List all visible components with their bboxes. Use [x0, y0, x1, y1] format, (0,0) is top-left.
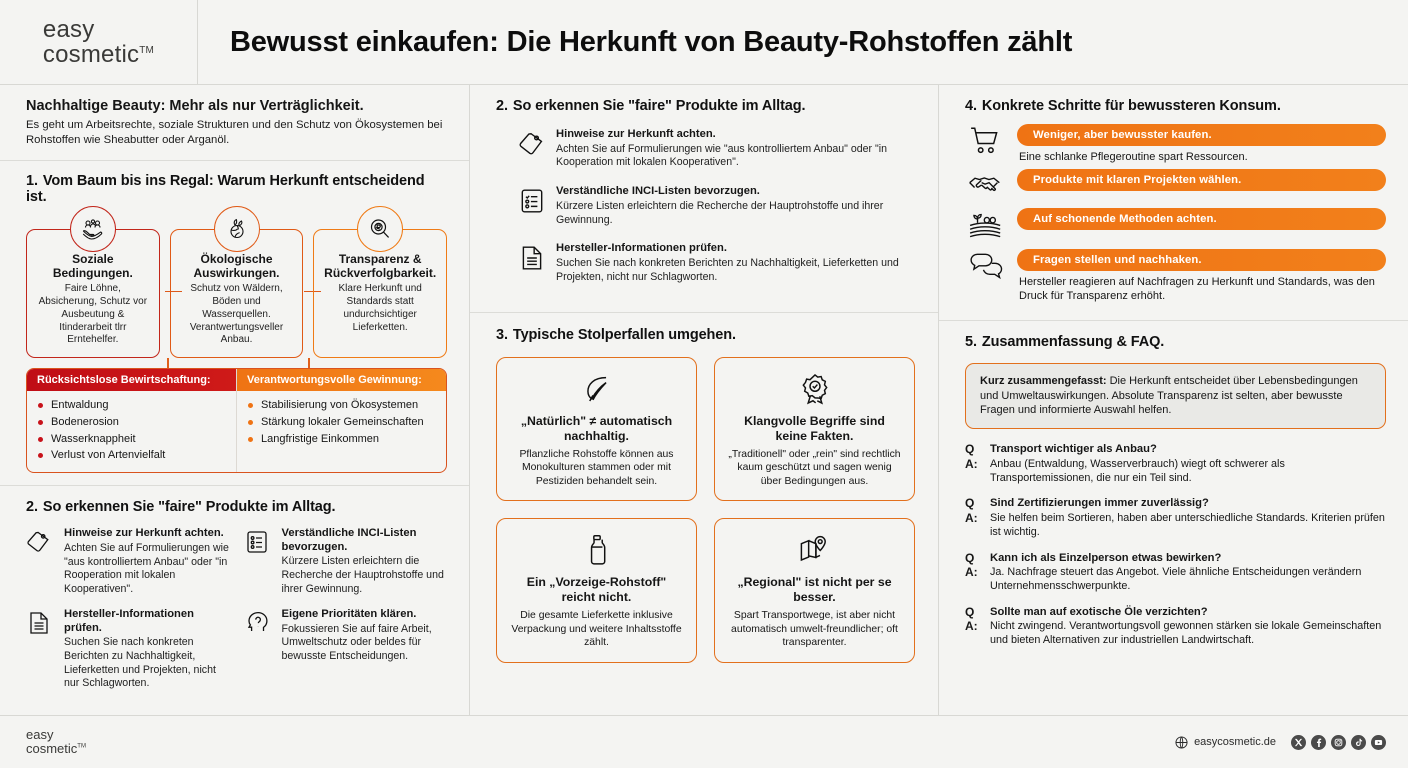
page-footer: easy cosmeticTM easycosmetic.de: [0, 715, 1408, 768]
faq-item[interactable]: Q Sollte man auf exotische Öle verzichte…: [965, 605, 1386, 648]
answer-marker: A:: [965, 565, 980, 594]
tip-body: Suchen Sie nach konkreten Berichten zu N…: [556, 257, 916, 285]
x-icon[interactable]: [1291, 735, 1306, 750]
tip-body: Kürzere Listen erleichtern die Recherche…: [282, 555, 448, 596]
comparison-heading: Verantwortungsvolle Gewinnung:: [237, 369, 446, 391]
column-left: Nachhaltige Beauty: Mehr als nur Verträg…: [0, 85, 470, 715]
column-right: 4.Konkrete Schritte für bewussteren Kons…: [939, 85, 1408, 715]
pillar-card-social: Soziale Bedingungen. Faire Löhne, Absich…: [26, 229, 160, 359]
section-2-mid-title: 2.So erkennen Sie "faire" Produkte im Al…: [496, 98, 916, 114]
pillar-title: Transparenz & Rückverfolgbarkeit.: [322, 252, 438, 281]
section-4-title: 4.Konkrete Schritte für bewussteren Kons…: [965, 98, 1386, 114]
trademark-mark: TM: [139, 45, 154, 56]
list-item: Langfristige Einkommen: [247, 431, 436, 448]
faq-answer-text: Nicht zwingend. Verantwortungsvoll gewon…: [990, 619, 1386, 648]
instagram-icon[interactable]: [1331, 735, 1346, 750]
pillar-title: Soziale Bedingungen.: [35, 252, 151, 281]
faq-question-text: Sollte man auf exotische Öle verzichten?: [990, 605, 1208, 620]
globe-icon: [1175, 736, 1188, 749]
pillar-body: Schutz von Wäldern, Böden und Wasserquel…: [179, 283, 295, 347]
pillar-body: Klare Herkunft und Standards statt undur…: [322, 283, 438, 334]
answer-marker: A:: [965, 511, 980, 540]
section-1-title: 1.Vom Baum bis ins Regal: Warum Herkunft…: [26, 173, 447, 205]
faq-question-text: Transport wichtiger als Anbau?: [990, 442, 1157, 457]
question-marker: Q: [965, 496, 980, 511]
summary-label: Kurz zusammengefasst:: [980, 375, 1107, 387]
action-steps-list: Weniger, aber bewusster kaufen. Eine sch…: [965, 124, 1386, 304]
pitfall-card-buzzwords: Klangvolle Begriffe sind keine Fakten. „…: [714, 357, 915, 502]
magnifier-icon: [357, 206, 403, 252]
checklist-icon: [518, 185, 546, 227]
list-item: Stärkung lokaler Gemeinschaften: [247, 414, 436, 431]
faq-question: Q Transport wichtiger als Anbau?: [965, 442, 1386, 457]
faq-item[interactable]: Q Sind Zertifizierungen immer zuverlässi…: [965, 496, 1386, 539]
faq-question-text: Sind Zertifizierungen immer zuverlässig?: [990, 496, 1209, 511]
tips-list-mid: Hinweise zur Herkunft achten. Achten Sie…: [496, 128, 916, 285]
brand-logo: easy cosmeticTM: [0, 0, 198, 84]
summary-callout: Kurz zusammengefasst: Die Herkunft entsc…: [965, 363, 1386, 430]
action-step-pill[interactable]: Auf schonende Methoden achten.: [1017, 208, 1386, 230]
facebook-icon[interactable]: [1311, 735, 1326, 750]
trademark-mark: TM: [77, 744, 86, 750]
field-plant-icon: [965, 208, 1007, 240]
action-step-pill[interactable]: Weniger, aber bewusster kaufen.: [1017, 124, 1386, 146]
header-title-cell: Bewusst einkaufen: Die Herkunft von Beau…: [198, 0, 1408, 84]
tip-body: Fokussieren Sie auf faire Arbeit, Umwelt…: [282, 623, 448, 664]
faq-answer: A: Anbau (Entwaldung, Wasserverbrauch) w…: [965, 457, 1386, 486]
section-5: 5.Zusammenfassung & FAQ. Kurz zusammenge…: [939, 320, 1408, 669]
action-step-pill[interactable]: Produkte mit klaren Projekten wählen.: [1017, 169, 1386, 191]
hands-people-icon: [70, 206, 116, 252]
pillar-card-group: Soziale Bedingungen. Faire Löhne, Absich…: [26, 229, 447, 359]
bottle-icon: [509, 529, 684, 571]
action-step: Weniger, aber bewusster kaufen. Eine sch…: [965, 124, 1386, 165]
faq-answer: A: Ja. Nachfrage steuert das Angebot. Vi…: [965, 565, 1386, 594]
head-question-icon: [244, 608, 272, 691]
content-columns: Nachhaltige Beauty: Mehr als nur Verträg…: [0, 85, 1408, 715]
tip-item: Hersteller-Informationen prüfen. Suchen …: [26, 608, 230, 691]
footer-right: easycosmetic.de: [1175, 735, 1386, 750]
question-marker: Q: [965, 551, 980, 566]
action-step: Fragen stellen und nachhaken. Hersteller…: [965, 249, 1386, 304]
tip-body: Achten Sie auf Formulierungen wie "aus k…: [64, 542, 230, 597]
section-3-title: 3.Typische Stolperfallen umgehen.: [496, 327, 916, 343]
map-pin-icon: [727, 529, 902, 571]
column-middle: 2.So erkennen Sie "faire" Produkte im Al…: [470, 85, 939, 715]
logo-line-2: cosmeticTM: [43, 42, 154, 67]
comparison-column-good: Verantwortungsvolle Gewinnung: Stabilisi…: [236, 369, 446, 472]
faq-answer-text: Sie helfen beim Sortieren, haben aber un…: [990, 511, 1386, 540]
pitfall-body: Spart Transportwege, ist aber nicht auto…: [727, 609, 902, 650]
tip-title: Verständliche INCI-Listen bevorzugen.: [556, 185, 916, 199]
comparison-list-bad: Entwaldung Bodenerosion Wasserknappheit …: [27, 391, 236, 472]
tip-body: Suchen Sie nach konkreten Berichten zu N…: [64, 636, 230, 691]
list-item: Wasserknappheit: [37, 431, 226, 448]
social-links: [1291, 735, 1386, 750]
leaf-icon: [509, 368, 684, 410]
tip-item: Hinweise zur Herkunft achten. Achten Sie…: [518, 128, 916, 170]
pitfall-title: Klangvolle Begriffe sind keine Fakten.: [727, 414, 902, 444]
list-item: Stabilisierung von Ökosystemen: [247, 397, 436, 414]
tip-item: Verständliche INCI-Listen bevorzugen. Kü…: [518, 185, 916, 227]
comparison-heading: Rücksichtslose Bewirtschaftung:: [27, 369, 236, 391]
infographic-page: easy cosmeticTM Bewusst einkaufen: Die H…: [0, 0, 1408, 768]
footer-logo-line-1: easy: [26, 728, 86, 742]
tip-title: Hersteller-Informationen prüfen.: [556, 242, 916, 256]
pitfall-card-hero-ingredient: Ein „Vorzeige-Rohstoff" reicht nicht. Di…: [496, 518, 697, 663]
page-header: easy cosmeticTM Bewusst einkaufen: Die H…: [0, 0, 1408, 85]
answer-marker: A:: [965, 457, 980, 486]
tag-icon: [26, 527, 54, 597]
section-3: 3.Typische Stolperfallen umgehen. „Natür…: [470, 312, 938, 673]
pitfall-body: Die gesamte Lieferkette inklusive Verpac…: [509, 609, 684, 650]
badge-check-icon: [727, 368, 902, 410]
pitfall-title: „Natürlich" ≠ automatisch nachhaltig.: [509, 414, 684, 444]
website-link[interactable]: easycosmetic.de: [1175, 736, 1276, 749]
pitfall-card-natural: „Natürlich" ≠ automatisch nachhaltig. Pf…: [496, 357, 697, 502]
tip-title: Hinweise zur Herkunft achten.: [556, 128, 916, 142]
action-step-pill[interactable]: Fragen stellen und nachhaken.: [1017, 249, 1386, 271]
intro-body: Es geht um Arbeitsrechte, soziale Strukt…: [26, 118, 447, 149]
tip-body: Kürzere Listen erleichtern die Recherche…: [556, 200, 916, 228]
document-icon: [26, 608, 54, 691]
question-marker: Q: [965, 605, 980, 620]
section-1: 1.Vom Baum bis ins Regal: Warum Herkunft…: [0, 160, 469, 486]
pitfall-title: Ein „Vorzeige-Rohstoff" reicht nicht.: [509, 575, 684, 605]
faq-question-text: Kann ich als Einzelperson etwas bewirken…: [990, 551, 1221, 566]
tiktok-icon[interactable]: [1351, 735, 1366, 750]
document-icon: [518, 242, 546, 284]
action-step: Produkte mit klaren Projekten wählen.: [965, 169, 1386, 199]
faq-answer: A: Nicht zwingend. Verantwortungsvoll ge…: [965, 619, 1386, 648]
action-step: Auf schonende Methoden achten.: [965, 208, 1386, 240]
intro-heading: Nachhaltige Beauty: Mehr als nur Verträg…: [26, 98, 447, 114]
tip-title: Eigene Prioritäten klären.: [282, 608, 448, 622]
section-2-left: 2.So erkennen Sie "faire" Produkte im Al…: [0, 485, 469, 712]
action-step-sub: Eine schlanke Pflegeroutine spart Ressou…: [1017, 146, 1386, 165]
question-marker: Q: [965, 442, 980, 457]
page-title: Bewusst einkaufen: Die Herkunft von Beau…: [230, 26, 1072, 59]
list-item: Verlust von Artenvielfalt: [37, 447, 226, 464]
pillar-body: Faire Löhne, Absicherung, Schutz vor Aus…: [35, 283, 151, 347]
tip-item: Eigene Prioritäten klären. Fokussieren S…: [244, 608, 448, 691]
pitfall-card-grid: „Natürlich" ≠ automatisch nachhaltig. Pf…: [496, 357, 916, 663]
faq-list: Q Transport wichtiger als Anbau? A: Anba…: [965, 442, 1386, 647]
section-1-number: 1.: [26, 173, 38, 189]
tips-grid-left: Hinweise zur Herkunft achten. Achten Sie…: [26, 527, 447, 702]
checklist-icon: [244, 527, 272, 597]
tip-body: Achten Sie auf Formulierungen wie "aus k…: [556, 143, 916, 171]
pitfall-body: „Traditionell" oder „rein" sind rechtlic…: [727, 448, 902, 489]
faq-item[interactable]: Q Transport wichtiger als Anbau? A: Anba…: [965, 442, 1386, 485]
pillar-card-transparency: Transparenz & Rückverfolgbarkeit. Klare …: [313, 229, 447, 359]
faq-answer-text: Ja. Nachfrage steuert das Angebot. Viele…: [990, 565, 1386, 594]
intro-block: Nachhaltige Beauty: Mehr als nur Verträg…: [0, 85, 469, 160]
tip-item: Hinweise zur Herkunft achten. Achten Sie…: [26, 527, 230, 597]
pillar-connectors: [26, 358, 447, 368]
website-label: easycosmetic.de: [1194, 736, 1276, 748]
logo-text: easy cosmeticTM: [43, 17, 154, 67]
faq-question: Q Sollte man auf exotische Öle verzichte…: [965, 605, 1386, 620]
handshake-icon: [965, 169, 1007, 199]
section-2-mid: 2.So erkennen Sie "faire" Produkte im Al…: [470, 85, 938, 312]
answer-marker: A:: [965, 619, 980, 648]
pitfall-body: Pflanzliche Rohstoffe können aus Monokul…: [509, 448, 684, 489]
youtube-icon[interactable]: [1371, 735, 1386, 750]
comparison-column-bad: Rücksichtslose Bewirtschaftung: Entwaldu…: [27, 369, 236, 472]
pillar-title: Ökologische Auswirkungen.: [179, 252, 295, 281]
pitfall-card-regional: „Regional" ist nicht per se besser. Spar…: [714, 518, 915, 663]
faq-answer: A: Sie helfen beim Sortieren, haben aber…: [965, 511, 1386, 540]
pillar-card-ecological: Ökologische Auswirkungen. Schutz von Wäl…: [170, 229, 304, 359]
comparison-table: Rücksichtslose Bewirtschaftung: Entwaldu…: [26, 368, 447, 473]
tip-item: Verständliche INCI-Listen bevorzugen. Kü…: [244, 527, 448, 597]
pitfall-title: „Regional" ist nicht per se besser.: [727, 575, 902, 605]
footer-logo-line-2: cosmeticTM: [26, 742, 86, 756]
comparison-list-good: Stabilisierung von Ökosystemen Stärkung …: [237, 391, 446, 455]
faq-question: Q Sind Zertifizierungen immer zuverlässi…: [965, 496, 1386, 511]
shopping-cart-icon: [965, 124, 1007, 156]
tag-icon: [518, 128, 546, 170]
faq-item[interactable]: Q Kann ich als Einzelperson etwas bewirk…: [965, 551, 1386, 594]
speech-bubbles-icon: [965, 249, 1007, 281]
list-item: Bodenerosion: [37, 414, 226, 431]
section-5-title: 5.Zusammenfassung & FAQ.: [965, 334, 1386, 350]
faq-answer-text: Anbau (Entwaldung, Wasserverbrauch) wieg…: [990, 457, 1386, 486]
tip-title: Hinweise zur Herkunft achten.: [64, 527, 230, 541]
action-step-sub: Hersteller reagieren auf Nachfragen zu H…: [1017, 271, 1386, 304]
list-item: Entwaldung: [37, 397, 226, 414]
tip-title: Hersteller-Informationen prüfen.: [64, 608, 230, 635]
tip-title: Verständliche INCI-Listen bevorzugen.: [282, 527, 448, 554]
footer-logo: easy cosmeticTM: [26, 728, 86, 756]
logo-line-1: easy: [43, 17, 154, 42]
section-4: 4.Konkrete Schritte für bewussteren Kons…: [939, 85, 1408, 320]
faq-question: Q Kann ich als Einzelperson etwas bewirk…: [965, 551, 1386, 566]
section-2-left-title: 2.So erkennen Sie "faire" Produkte im Al…: [26, 499, 447, 515]
plant-globe-icon: [214, 206, 260, 252]
tip-item: Hersteller-Informationen prüfen. Suchen …: [518, 242, 916, 284]
